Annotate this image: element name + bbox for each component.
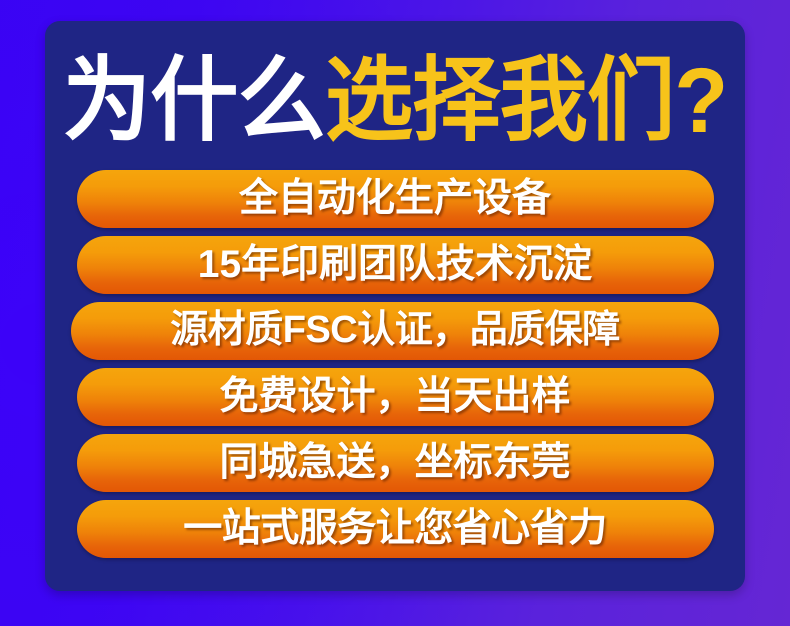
title-white-segment: 为什么 — [63, 55, 325, 147]
feature-pill-6[interactable]: 一站式服务让您省心省力 — [77, 500, 714, 558]
poster-card: 为什么选择我们? 全自动化生产设备 15年印刷团队技术沉淀 源材质FSC认证，品… — [45, 21, 745, 591]
feature-pill-4[interactable]: 免费设计，当天出样 — [77, 368, 714, 426]
feature-pill-4-label: 免费设计，当天出样 — [219, 377, 570, 416]
feature-pill-3[interactable]: 源材质FSC认证，品质保障 — [71, 302, 719, 360]
feature-pill-5-label: 同城急送，坐标东莞 — [219, 443, 570, 482]
feature-pill-1-label: 全自动化生产设备 — [239, 179, 551, 218]
feature-pill-list: 全自动化生产设备 15年印刷团队技术沉淀 源材质FSC认证，品质保障 免费设计，… — [45, 170, 745, 581]
feature-pill-5[interactable]: 同城急送，坐标东莞 — [77, 434, 714, 492]
title-gold-segment: 选择我们? — [325, 55, 727, 147]
feature-pill-3-label: 源材质FSC认证，品质保障 — [170, 311, 620, 349]
feature-pill-2[interactable]: 15年印刷团队技术沉淀 — [77, 236, 714, 294]
feature-pill-6-label: 一站式服务让您省心省力 — [183, 509, 607, 548]
page-title: 为什么选择我们? — [59, 47, 731, 155]
feature-pill-2-label: 15年印刷团队技术沉淀 — [198, 245, 592, 284]
feature-pill-1[interactable]: 全自动化生产设备 — [77, 170, 714, 228]
promo-poster: 为什么选择我们? 全自动化生产设备 15年印刷团队技术沉淀 源材质FSC认证，品… — [0, 0, 790, 626]
